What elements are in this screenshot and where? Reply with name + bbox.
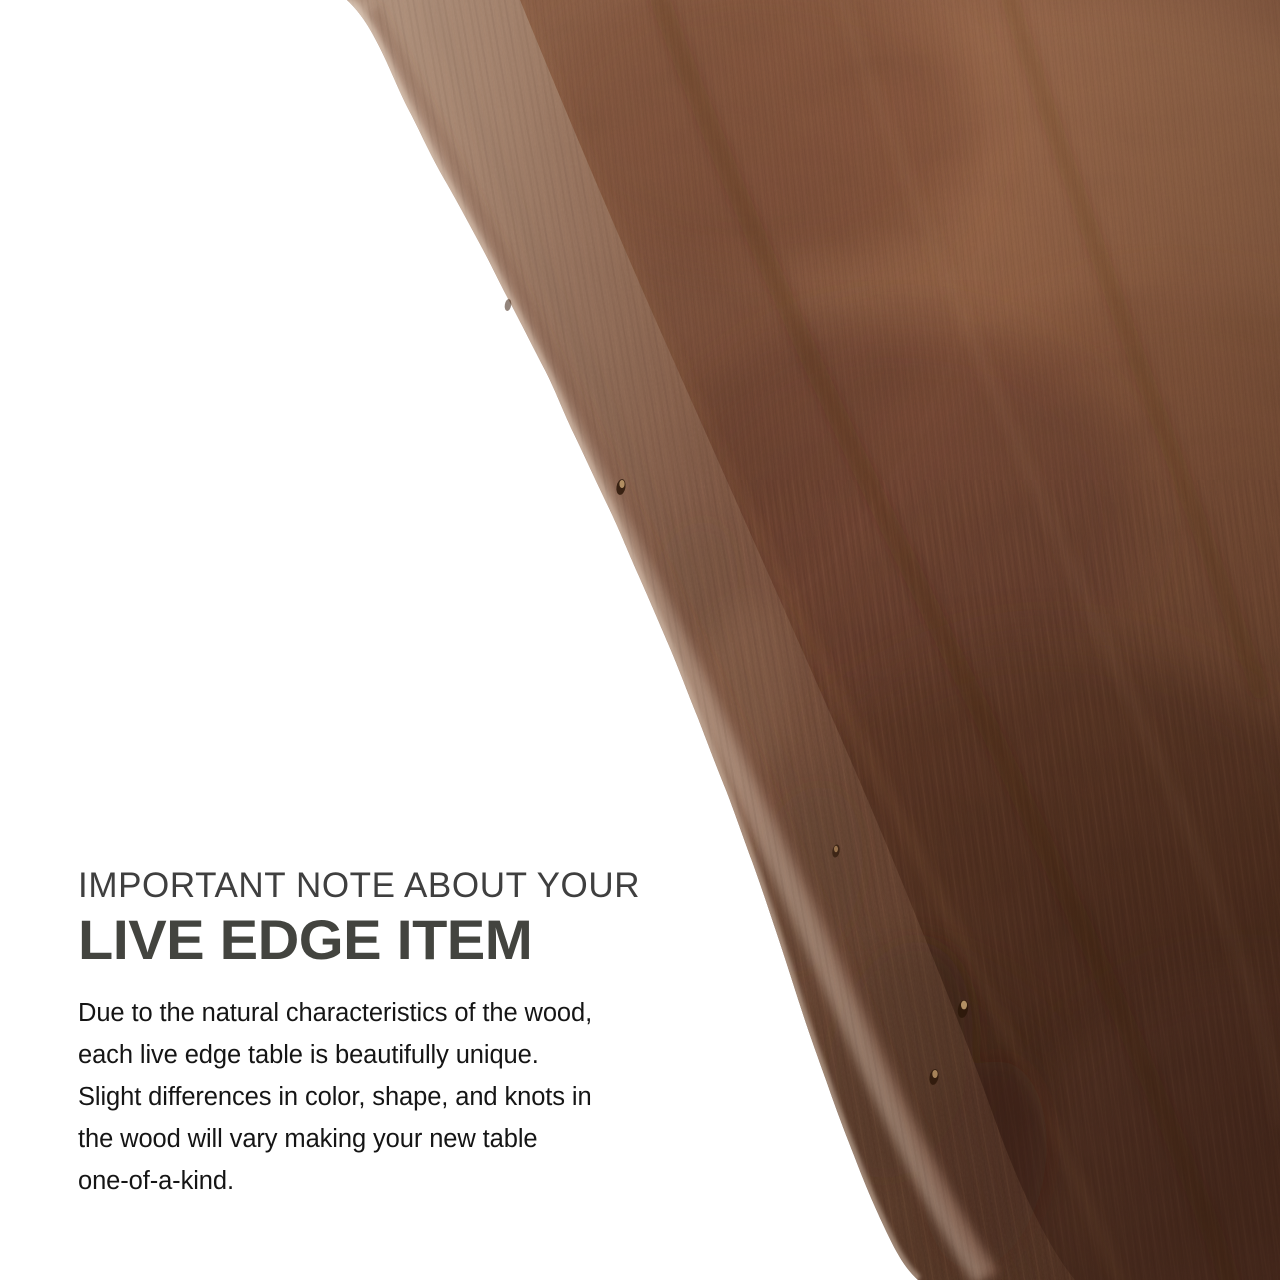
note-headline: LIVE EDGE ITEM	[78, 910, 758, 970]
screenshot-canvas: IMPORTANT NOTE ABOUT YOUR LIVE EDGE ITEM…	[0, 0, 1280, 1280]
note-body: Due to the natural characteristics of th…	[78, 992, 738, 1202]
note-body-line-5: one-of-a-kind.	[78, 1160, 738, 1202]
note-eyebrow: IMPORTANT NOTE ABOUT YOUR	[78, 866, 738, 906]
important-note-block: IMPORTANT NOTE ABOUT YOUR LIVE EDGE ITEM…	[78, 866, 738, 1202]
note-body-line-4: the wood will vary making your new table	[78, 1118, 738, 1160]
note-body-line-2: each live edge table is beautifully uniq…	[78, 1034, 738, 1076]
note-body-line-3: Slight differences in color, shape, and …	[78, 1076, 738, 1118]
note-body-line-1: Due to the natural characteristics of th…	[78, 992, 738, 1034]
